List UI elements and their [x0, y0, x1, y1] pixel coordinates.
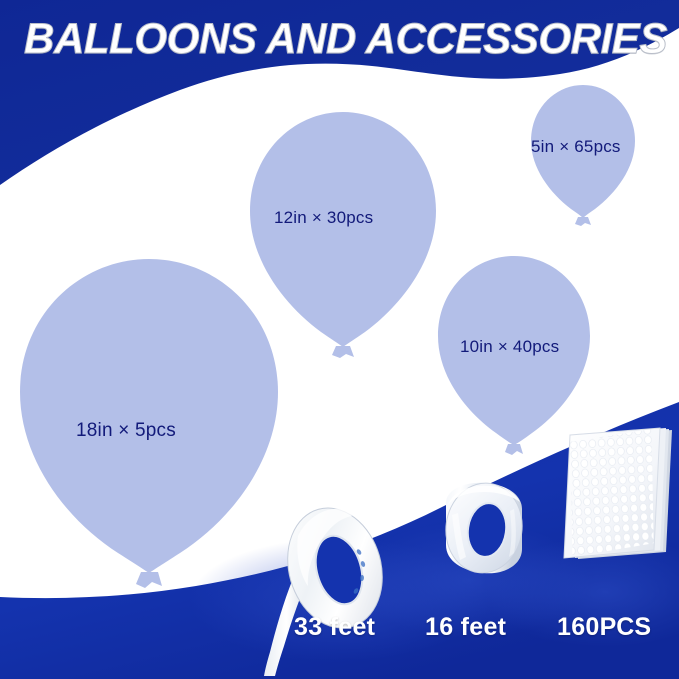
caption-ribbon-roll-text: 33 feet [294, 613, 375, 641]
caption-glue-dots: 160PCS [557, 613, 651, 642]
balloon-10in-label: 10in × 40pcs [460, 337, 559, 357]
tape-ring-icon [424, 477, 534, 592]
product-infographic: BALLOONS AND ACCESSORIES 12in × 30pcs 5i… [0, 0, 679, 679]
caption-glue-dots-unit: PCS [600, 613, 651, 641]
glue-dot-sheet-icon [554, 428, 676, 568]
caption-ribbon-roll: 33 feet [294, 613, 375, 642]
caption-tape-ring-text: 16 feet [425, 613, 506, 641]
tape-ring [424, 477, 534, 592]
caption-tape-ring: 16 feet [425, 613, 506, 642]
caption-glue-dots-count: 160 [557, 613, 600, 641]
balloon-18in-label: 18in × 5pcs [76, 420, 176, 442]
ribbon-roll [262, 492, 397, 677]
balloon-12in-label: 12in × 30pcs [274, 208, 373, 228]
balloon-5in-label: 5in × 65pcs [531, 137, 621, 157]
glue-dots [554, 428, 676, 568]
tape-roll-icon [262, 492, 397, 677]
